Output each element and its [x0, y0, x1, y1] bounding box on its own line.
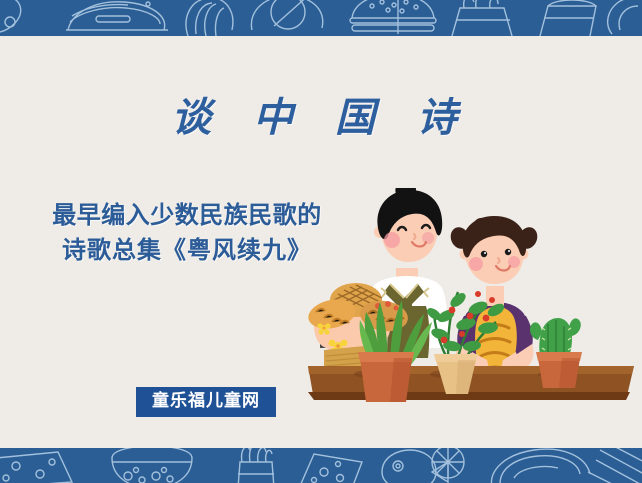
- decor-band-bottom: [0, 448, 642, 483]
- page-title: 谈 中 国 诗: [0, 96, 642, 140]
- food-line-art-bottom-icon: [0, 448, 642, 483]
- food-line-art-top-icon: [0, 0, 642, 36]
- decor-band-top: [0, 0, 642, 36]
- site-watermark-badge: 童乐福儿童网: [136, 387, 276, 417]
- market-scene-icon: [300, 188, 642, 438]
- slide-canvas: 谈 中 国 诗 最早编入少数民族民歌的 诗歌总集《粤风续九》 童乐福儿童网: [0, 0, 642, 483]
- illustration-woman-and-girl: [300, 188, 642, 438]
